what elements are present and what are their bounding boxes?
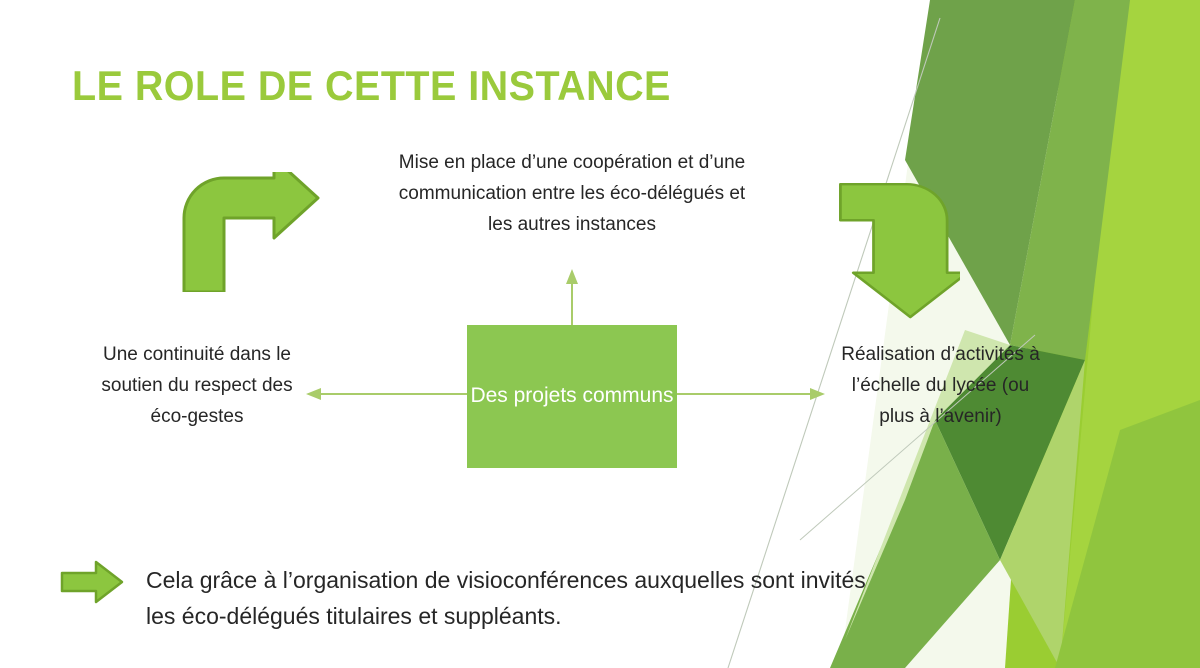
connector-right — [677, 388, 825, 400]
connector-up — [566, 269, 578, 325]
facet-shape-pale-1 — [880, 0, 1200, 668]
diagram-label-left: Une continuité dans le soutien du respec… — [84, 340, 310, 432]
facet-shape-mid-4 — [1055, 400, 1200, 668]
connector-left — [306, 388, 467, 400]
curved-arrow-right-down-icon — [838, 180, 960, 320]
page-title: LE ROLE DE CETTE INSTANCE — [72, 62, 671, 110]
facet-shape-mid-2 — [1010, 0, 1130, 360]
facet-shape-light-2 — [1060, 0, 1200, 668]
block-arrow-right-icon — [60, 560, 124, 604]
curved-arrow-up-right-icon — [178, 172, 322, 292]
footer-note: Cela grâce à l’organisation de visioconf… — [146, 562, 876, 635]
diagram-center-node: Des projets communs — [467, 325, 677, 468]
diagram-label-top: Mise en place d’une coopération et d’une… — [398, 148, 746, 240]
presentation-slide: LE ROLE DE CETTE INSTANCE Mise en place … — [0, 0, 1200, 668]
facet-shape-light-1 — [1005, 0, 1200, 668]
diagram-center-label: Des projets communs — [470, 380, 673, 413]
diagram-label-right: Réalisation d’activités à l’échelle du l… — [833, 340, 1048, 432]
